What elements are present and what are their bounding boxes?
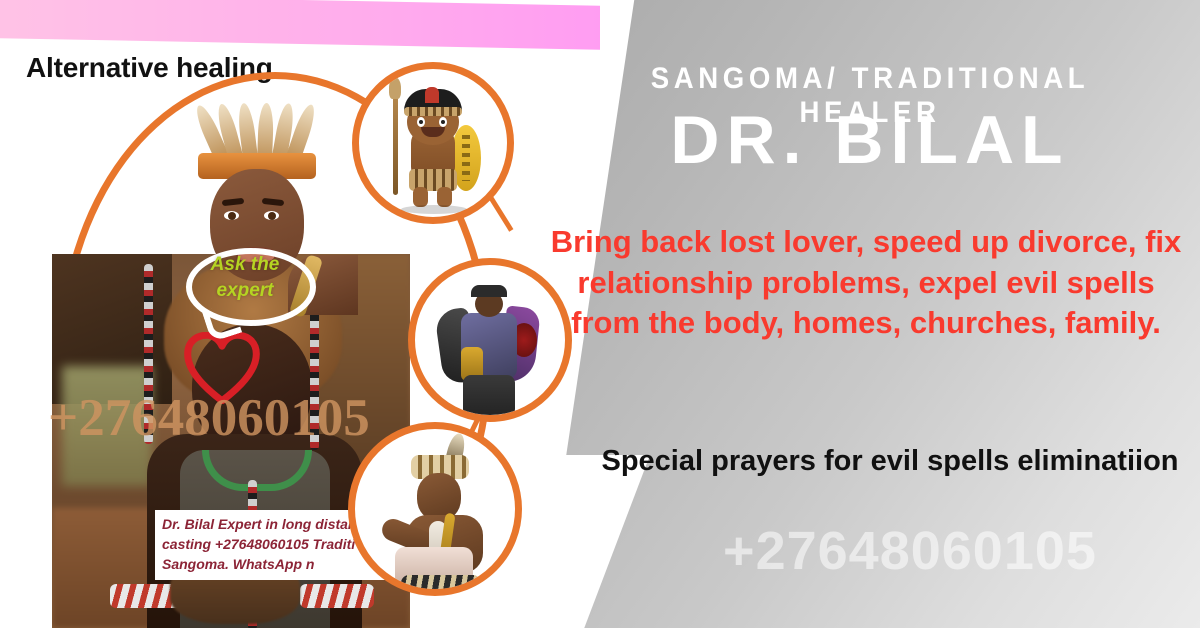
pink-accent-strip: [0, 0, 600, 50]
ghost-phone-number: +27648060105: [620, 520, 1200, 582]
circle-cartoon-zulu-warrior: [352, 62, 514, 224]
prayers-text: Special prayers for evil spells eliminat…: [600, 443, 1180, 481]
brand-name: DR. BILAL: [560, 106, 1180, 174]
advertisement-banner: Alternative healing: [0, 0, 1200, 628]
circle-crouching-traditional-healer: [348, 422, 522, 596]
speech-bubble-text: Ask the expert: [186, 252, 304, 303]
circle-healer-with-cloak: [408, 258, 572, 422]
services-text: Bring back lost lover, speed up divorce,…: [546, 222, 1186, 344]
